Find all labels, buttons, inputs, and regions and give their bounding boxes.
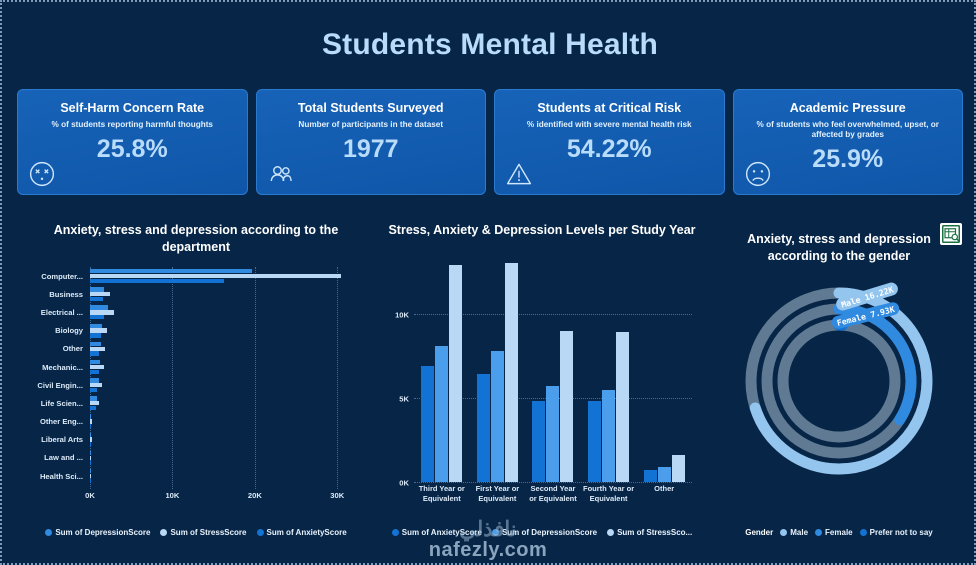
bar-group bbox=[90, 305, 376, 320]
bar-segment[interactable] bbox=[90, 442, 91, 446]
kpi-card-academic-pressure[interactable]: Academic Pressure % of students who feel… bbox=[733, 89, 964, 195]
chart-plot-area[interactable]: 10K5K0K bbox=[414, 255, 692, 482]
bar-segment[interactable] bbox=[90, 287, 104, 291]
bar-segment[interactable] bbox=[90, 406, 96, 410]
bar-group bbox=[90, 378, 376, 393]
bar-category-label: Civil Engin... bbox=[16, 381, 90, 390]
bar-category-label: Other bbox=[16, 344, 90, 353]
bar-group[interactable] bbox=[636, 255, 692, 482]
axis-tick-label: 5K bbox=[399, 394, 409, 403]
axis-category-label: Second Year or Equivalent bbox=[525, 484, 581, 504]
bar-row[interactable]: Computer... bbox=[16, 267, 376, 285]
bar-segment[interactable] bbox=[90, 360, 100, 364]
kpi-card-self-harm[interactable]: Self-Harm Concern Rate % of students rep… bbox=[17, 89, 248, 195]
bar-segment[interactable] bbox=[658, 467, 671, 482]
bar-segment[interactable] bbox=[532, 401, 545, 482]
bar-group bbox=[90, 414, 376, 429]
bar-row[interactable]: Life Scien... bbox=[16, 394, 376, 412]
bar-segment[interactable] bbox=[90, 342, 101, 346]
warning-triangle-icon bbox=[505, 160, 533, 188]
bar-segment[interactable] bbox=[560, 331, 573, 482]
legend-swatch-icon bbox=[45, 529, 52, 536]
legend-label: Sum of DepressionScore bbox=[502, 528, 597, 537]
bar-segment[interactable] bbox=[477, 374, 490, 482]
bar-segment[interactable] bbox=[90, 274, 341, 278]
legend-swatch-icon bbox=[860, 529, 867, 536]
bar-group bbox=[90, 396, 376, 411]
legend-item[interactable]: Sum of StressScore bbox=[160, 528, 246, 537]
legend-item[interactable]: Sum of AnxietyScore bbox=[392, 528, 482, 537]
bar-segment[interactable] bbox=[616, 332, 629, 482]
bar-segment[interactable] bbox=[90, 401, 99, 405]
kpi-card-critical-risk[interactable]: Students at Critical Risk % identified w… bbox=[494, 89, 725, 195]
page-title: Students Mental Health bbox=[2, 28, 976, 62]
bar-category-label: Other Eng... bbox=[16, 417, 90, 426]
legend-swatch-icon bbox=[492, 529, 499, 536]
kpi-subtitle: Number of participants in the dataset bbox=[265, 120, 478, 130]
bar-segment[interactable] bbox=[90, 424, 91, 428]
bar-segment[interactable] bbox=[588, 401, 601, 482]
kpi-subtitle: % of students reporting harmful thoughts bbox=[26, 120, 239, 130]
legend-item[interactable]: Prefer not to say bbox=[860, 528, 933, 537]
bar-row[interactable]: Health Sci... bbox=[16, 467, 376, 485]
kpi-value: 54.22% bbox=[503, 136, 716, 163]
chart-panel-study-year: Stress, Anxiety & Depression Levels per … bbox=[380, 215, 704, 545]
bar-segment[interactable] bbox=[90, 305, 108, 309]
kpi-title: Academic Pressure bbox=[742, 101, 955, 115]
bar-category-label: Law and ... bbox=[16, 453, 90, 462]
bar-category-label: Health Sci... bbox=[16, 472, 90, 481]
axis-category-label: Other bbox=[636, 484, 692, 504]
bar-segment[interactable] bbox=[491, 351, 504, 482]
bar-segment[interactable] bbox=[435, 346, 448, 482]
bar-segment[interactable] bbox=[602, 390, 615, 482]
legend-label: Sum of StressScore bbox=[170, 528, 246, 537]
bar-segment[interactable] bbox=[90, 414, 91, 418]
sad-face-icon bbox=[744, 160, 772, 188]
bar-category-label: Liberal Arts bbox=[16, 435, 90, 444]
bar-row[interactable]: Liberal Arts bbox=[16, 431, 376, 449]
bar-category-label: Mechanic... bbox=[16, 363, 90, 372]
bar-group bbox=[90, 287, 376, 302]
chart-x-axis: 0K10K20K30K bbox=[90, 491, 362, 505]
chart-title-department: Anxiety, stress and depression according… bbox=[26, 222, 366, 256]
kpi-title: Self-Harm Concern Rate bbox=[26, 101, 239, 115]
bar-segment[interactable] bbox=[90, 451, 91, 455]
chart-bar-groups bbox=[414, 255, 692, 482]
bar-group bbox=[90, 469, 376, 484]
legend-label: Female bbox=[825, 528, 853, 537]
gridline: 0K bbox=[414, 482, 692, 483]
bar-row[interactable]: Other Eng... bbox=[16, 413, 376, 431]
bar-segment[interactable] bbox=[90, 479, 91, 483]
bar-segment[interactable] bbox=[90, 351, 99, 355]
bar-row[interactable]: Biology bbox=[16, 322, 376, 340]
bar-group bbox=[90, 450, 376, 465]
bar-group bbox=[90, 323, 376, 338]
chart-panel-gender: Anxiety, stress and depression according… bbox=[708, 215, 970, 545]
legend-swatch-icon bbox=[780, 529, 787, 536]
bar-segment[interactable] bbox=[90, 437, 92, 441]
bar-segment[interactable] bbox=[90, 396, 97, 400]
kpi-title: Total Students Surveyed bbox=[265, 101, 478, 115]
bar-group bbox=[90, 360, 376, 375]
bar-segment[interactable] bbox=[90, 333, 101, 337]
bar-group bbox=[90, 432, 376, 447]
bar-category-label: Business bbox=[16, 290, 90, 299]
axis-tick-label: 10K bbox=[165, 491, 179, 500]
kpi-title: Students at Critical Risk bbox=[503, 101, 716, 115]
bar-segment[interactable] bbox=[90, 279, 224, 283]
bar-segment[interactable] bbox=[90, 370, 99, 374]
axis-tick-label: 30K bbox=[330, 491, 344, 500]
bar-segment[interactable] bbox=[90, 469, 91, 473]
bar-row[interactable]: Civil Engin... bbox=[16, 376, 376, 394]
legend-label: Sum of DepressionScore bbox=[55, 528, 150, 537]
legend-swatch-icon bbox=[392, 529, 399, 536]
legend-swatch-icon bbox=[815, 529, 822, 536]
bar-group bbox=[90, 269, 376, 284]
bar-row[interactable]: Other bbox=[16, 340, 376, 358]
bar-group[interactable] bbox=[525, 255, 581, 482]
bar-group[interactable] bbox=[581, 255, 637, 482]
bar-group bbox=[90, 341, 376, 356]
axis-tick-label: 0K bbox=[85, 491, 95, 500]
bar-segment[interactable] bbox=[90, 433, 91, 437]
bar-segment[interactable] bbox=[90, 474, 91, 478]
chart-panel-department: Anxiety, stress and depression according… bbox=[16, 215, 376, 545]
bar-segment[interactable] bbox=[90, 292, 110, 296]
bar-row[interactable]: Mechanic... bbox=[16, 358, 376, 376]
axis-tick-label: 10K bbox=[395, 310, 409, 319]
legend-label: Sum of AnxietyScore bbox=[402, 528, 482, 537]
bar-row[interactable]: Electrical ... bbox=[16, 303, 376, 321]
legend-item[interactable]: Sum of DepressionScore bbox=[492, 528, 597, 537]
bar-segment[interactable] bbox=[644, 470, 657, 482]
kpi-value: 1977 bbox=[265, 136, 478, 163]
chart-x-axis: Third Year or EquivalentFirst Year or Eq… bbox=[414, 484, 692, 504]
bar-segment[interactable] bbox=[90, 269, 252, 273]
legend-item[interactable]: Female bbox=[815, 528, 853, 537]
kpi-value: 25.9% bbox=[742, 146, 955, 173]
bar-segment[interactable] bbox=[90, 460, 91, 464]
legend-label: Sum of AnxietyScore bbox=[267, 528, 347, 537]
bar-row[interactable]: Law and ... bbox=[16, 449, 376, 467]
axis-tick-label: 20K bbox=[248, 491, 262, 500]
bar-segment[interactable] bbox=[90, 419, 92, 423]
bar-segment[interactable] bbox=[90, 297, 103, 301]
legend-title: Gender bbox=[745, 528, 773, 537]
kpi-subtitle: % of students who feel overwhelmed, upse… bbox=[742, 120, 955, 140]
bar-segment[interactable] bbox=[90, 365, 104, 369]
dizzy-face-icon bbox=[28, 160, 56, 188]
chart-plot-area[interactable]: Computer...BusinessElectrical ...Biology… bbox=[16, 267, 376, 485]
bar-segment[interactable] bbox=[90, 347, 105, 351]
chart-legend-study-year[interactable]: Sum of AnxietyScoreSum of DepressionScor… bbox=[380, 528, 704, 537]
bar-segment[interactable] bbox=[672, 455, 685, 482]
bar-group[interactable] bbox=[414, 255, 470, 482]
kpi-value: 25.8% bbox=[26, 136, 239, 163]
legend-swatch-icon bbox=[607, 529, 614, 536]
bar-category-label: Biology bbox=[16, 326, 90, 335]
legend-swatch-icon bbox=[257, 529, 264, 536]
legend-item[interactable]: Sum of AnxietyScore bbox=[257, 528, 347, 537]
bar-segment[interactable] bbox=[505, 263, 518, 482]
radial-track bbox=[783, 325, 895, 437]
legend-item[interactable]: Male bbox=[780, 528, 808, 537]
kpi-card-row: Self-Harm Concern Rate % of students rep… bbox=[17, 89, 963, 195]
export-to-table-icon[interactable] bbox=[940, 223, 962, 245]
axis-category-label: Fourth Year or Equivalent bbox=[581, 484, 637, 504]
two-people-icon bbox=[267, 160, 295, 188]
bar-segment[interactable] bbox=[90, 315, 104, 319]
chart-legend-gender[interactable]: GenderMaleFemalePrefer not to say bbox=[708, 528, 970, 537]
legend-swatch-icon bbox=[160, 529, 167, 536]
bar-row[interactable]: Business bbox=[16, 285, 376, 303]
bar-segment[interactable] bbox=[449, 265, 462, 482]
chart-title-study-year: Stress, Anxiety & Depression Levels per … bbox=[382, 222, 702, 239]
axis-tick-label: 0K bbox=[399, 479, 409, 488]
bar-segment[interactable] bbox=[90, 310, 114, 314]
legend-label: Prefer not to say bbox=[870, 528, 933, 537]
bar-segment[interactable] bbox=[90, 383, 102, 387]
axis-category-label: Third Year or Equivalent bbox=[414, 484, 470, 504]
bar-group[interactable] bbox=[470, 255, 526, 482]
axis-category-label: First Year or Equivalent bbox=[470, 484, 526, 504]
bar-category-label: Computer... bbox=[16, 272, 90, 281]
kpi-subtitle: % identified with severe mental health r… bbox=[503, 120, 716, 130]
bar-segment[interactable] bbox=[90, 388, 97, 392]
legend-item[interactable]: Sum of DepressionScore bbox=[45, 528, 150, 537]
bar-segment[interactable] bbox=[90, 328, 107, 332]
bar-segment[interactable] bbox=[90, 378, 99, 382]
bar-category-label: Life Scien... bbox=[16, 399, 90, 408]
bar-category-label: Electrical ... bbox=[16, 308, 90, 317]
bar-segment[interactable] bbox=[546, 386, 559, 482]
chart-title-gender: Anxiety, stress and depression according… bbox=[724, 231, 954, 265]
bar-segment[interactable] bbox=[90, 456, 91, 460]
legend-label: Sum of StressSco... bbox=[617, 528, 692, 537]
legend-label: Male bbox=[790, 528, 808, 537]
kpi-card-total-students[interactable]: Total Students Surveyed Number of partic… bbox=[256, 89, 487, 195]
radial-gauge[interactable]: Male 16.22K Female 7.93K bbox=[739, 281, 939, 481]
bar-segment[interactable] bbox=[421, 366, 434, 482]
legend-item[interactable]: Sum of StressSco... bbox=[607, 528, 692, 537]
bar-segment[interactable] bbox=[90, 324, 102, 328]
chart-legend-department[interactable]: Sum of DepressionScoreSum of StressScore… bbox=[16, 528, 376, 537]
dashboard-canvas: Students Mental Health Self-Harm Concern… bbox=[0, 0, 976, 565]
